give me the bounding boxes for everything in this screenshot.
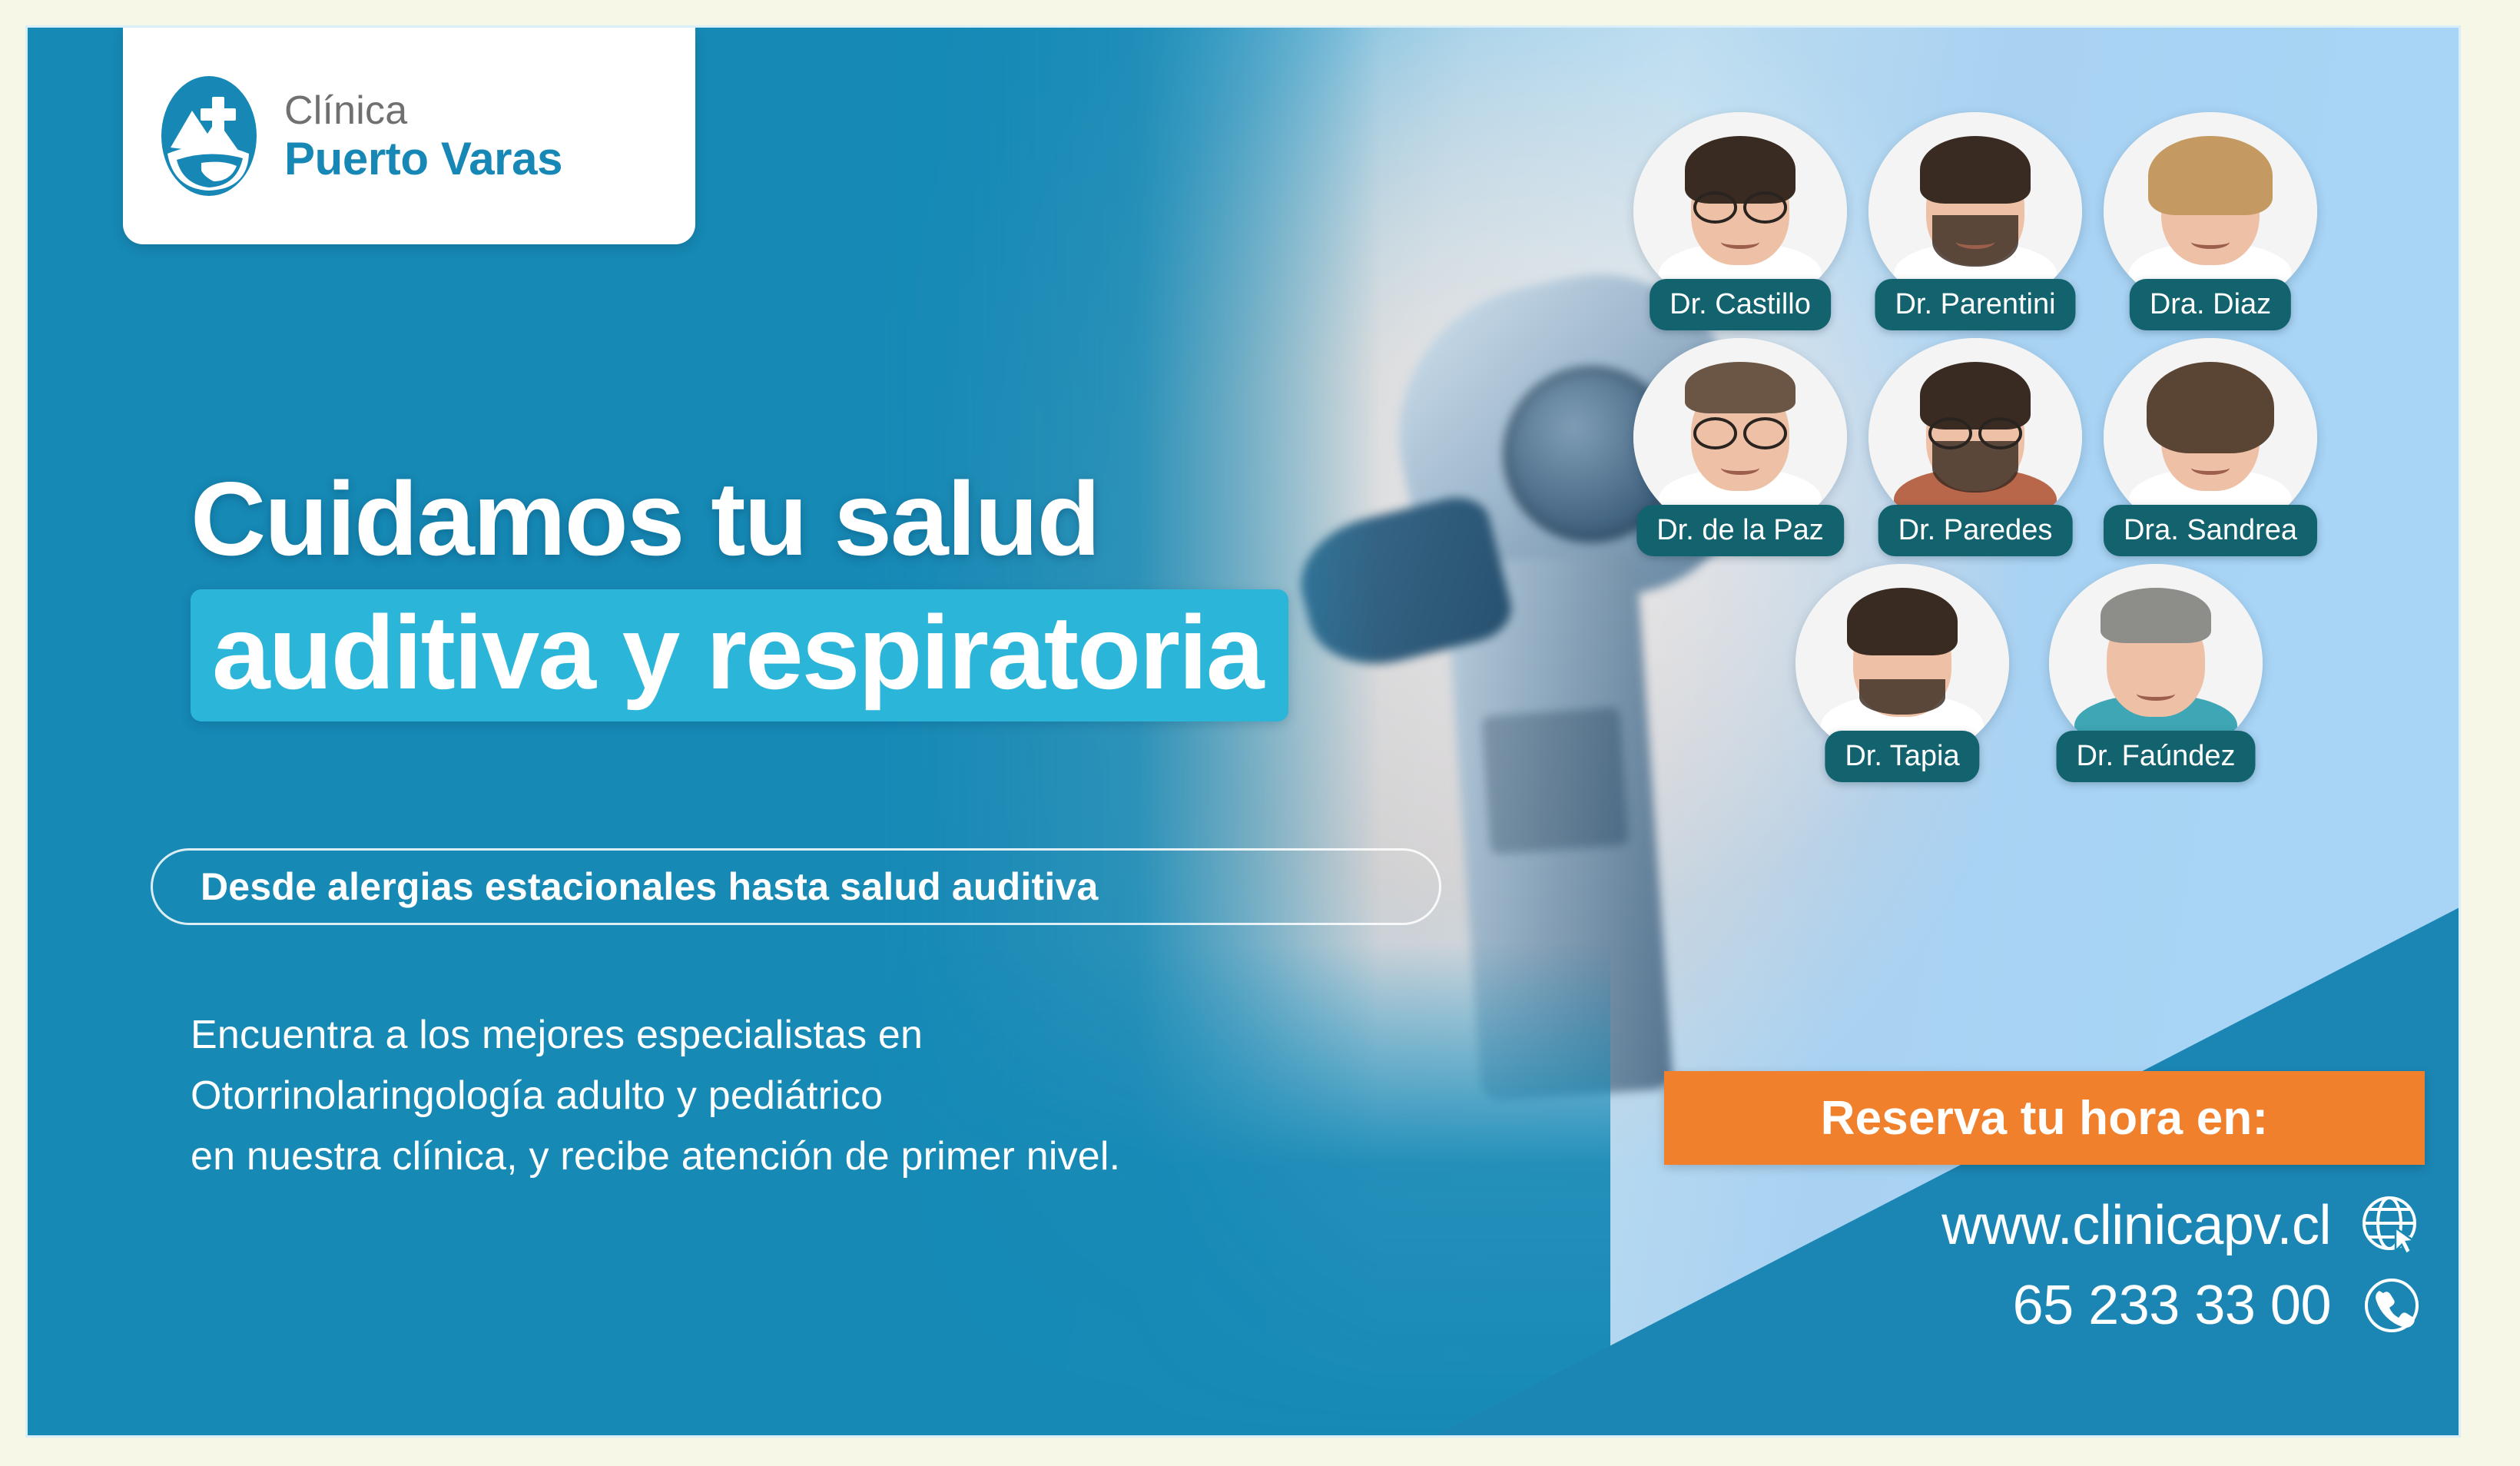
- doctor-card[interactable]: Dra. Sandrea: [2104, 338, 2317, 536]
- logo-text-clinica: Clínica: [284, 91, 562, 131]
- doctors-grid: Dr. Castillo Dr. Parentini Dra. Diaz: [1633, 112, 2409, 790]
- website-row[interactable]: www.clinicapv.cl: [1703, 1192, 2425, 1259]
- phone-circle-icon: [2359, 1272, 2425, 1338]
- doctor-name-badge: Dra. Diaz: [2130, 279, 2291, 330]
- doctor-card[interactable]: Dr. Tapia: [1795, 564, 2009, 762]
- doctors-row-3: Dr. Tapia Dr. Faúndez: [1633, 564, 2409, 762]
- website-text: www.clinicapv.cl: [1941, 1194, 2331, 1257]
- doctor-card[interactable]: Dr. Castillo: [1633, 112, 1847, 310]
- doctor-name-badge: Dra. Sandrea: [2104, 505, 2317, 556]
- reserve-cta-label: Reserva tu hora en:: [1821, 1091, 2269, 1146]
- doctor-name-badge: Dr. Parentini: [1875, 279, 2075, 330]
- doctor-name-badge: Dr. Paredes: [1878, 505, 2073, 556]
- brand-logo-card: Clínica Puerto Varas: [123, 28, 695, 244]
- headline-line-2: auditiva y respiratoria: [212, 600, 1262, 705]
- doctor-name-badge: Dr. Faúndez: [2057, 731, 2256, 782]
- headline-highlight-box: auditiva y respiratoria: [191, 589, 1288, 721]
- tagline-text: Desde alergias estacionales hasta salud …: [201, 864, 1098, 909]
- doctor-card[interactable]: Dr. Paredes: [1868, 338, 2082, 536]
- body-line-2: Otorrinolaringología adulto y pediátrico: [191, 1066, 1120, 1126]
- doctor-card[interactable]: Dr. Faúndez: [2049, 564, 2263, 762]
- phone-row[interactable]: 65 233 33 00: [1703, 1272, 2425, 1338]
- contact-block: www.clinicapv.cl 65 233 33 00: [1703, 1192, 2425, 1352]
- doctors-row-2: Dr. de la Paz Dr. Paredes: [1633, 338, 2409, 536]
- doctor-name-badge: Dr. de la Paz: [1636, 505, 1844, 556]
- reserve-cta-bar[interactable]: Reserva tu hora en:: [1664, 1071, 2425, 1165]
- headline-line-1: Cuidamos tu salud: [191, 466, 1650, 572]
- headline: Cuidamos tu salud auditiva y respiratori…: [191, 466, 1650, 721]
- doctor-card[interactable]: Dr. de la Paz: [1633, 338, 1847, 536]
- doctor-name-badge: Dr. Castillo: [1650, 279, 1831, 330]
- tagline-pill: Desde alergias estacionales hasta salud …: [151, 848, 1441, 925]
- globe-icon: [2359, 1192, 2425, 1259]
- phone-text: 65 233 33 00: [2013, 1274, 2331, 1337]
- body-line-1: Encuentra a los mejores especialistas en: [191, 1005, 1120, 1066]
- clinic-mountain-cross-logo-icon: [157, 74, 261, 198]
- doctors-row-1: Dr. Castillo Dr. Parentini Dra. Diaz: [1633, 112, 2409, 310]
- advertisement-banner: Clínica Puerto Varas Cuidamos tu salud a…: [28, 28, 2459, 1435]
- logo-text-puerto-varas: Puerto Varas: [284, 136, 562, 182]
- doctor-name-badge: Dr. Tapia: [1825, 731, 1979, 782]
- doctor-card[interactable]: Dra. Diaz: [2104, 112, 2317, 310]
- body-copy: Encuentra a los mejores especialistas en…: [191, 1005, 1120, 1187]
- body-line-3: en nuestra clínica, y recibe atención de…: [191, 1126, 1120, 1187]
- doctor-card[interactable]: Dr. Parentini: [1868, 112, 2082, 310]
